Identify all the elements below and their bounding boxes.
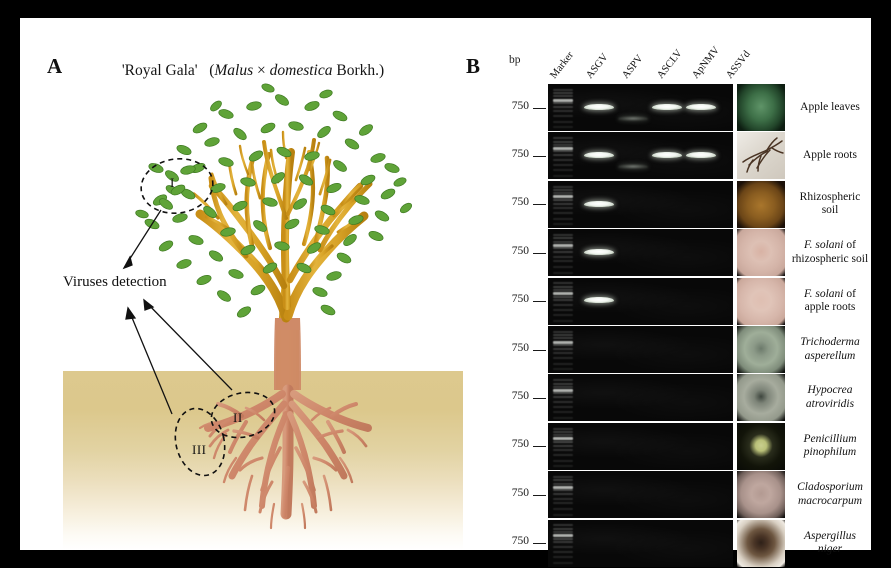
ladder-band [553, 299, 573, 301]
gel-background [548, 181, 733, 228]
ladder-band [553, 256, 573, 258]
ladder-band [553, 546, 573, 548]
taxon-italic: Penicillium pinophilum [803, 433, 856, 459]
sample-thumbnail-aspergillus-niger-culture [737, 520, 785, 567]
ladder-band [553, 396, 573, 398]
ladder-band [553, 392, 573, 394]
ladder-band [553, 348, 573, 350]
gel-image [548, 181, 733, 228]
ladder-band [553, 551, 573, 553]
panel-a-tree-diagram: A 'Royal Gala' (Malus × domestica Borkh.… [20, 18, 465, 550]
ladder-band [553, 251, 573, 253]
bp-size-label: 750 [503, 535, 529, 547]
ladder-band [553, 465, 573, 467]
dna-marker-ladder [553, 522, 573, 565]
region-II-label: II [233, 410, 243, 426]
gel-band-asgv [584, 104, 614, 110]
bp-tick-mark [533, 108, 546, 109]
sample-thumbnail-rhizospheric-soil-photo [737, 181, 785, 228]
gel-image [548, 278, 733, 325]
ladder-band [553, 406, 573, 408]
gel-image [548, 132, 733, 179]
ladder-band [553, 272, 573, 274]
region-I-label: I [170, 175, 175, 191]
ladder-band [553, 189, 573, 191]
ladder-band [553, 401, 573, 403]
region-III-label: III [192, 442, 207, 458]
thumbnail-image [737, 520, 785, 567]
bp-size-label: 750 [503, 196, 529, 208]
ladder-band [553, 89, 573, 91]
gel-background [548, 326, 733, 373]
ladder-band [553, 331, 573, 333]
thumbnail-image [737, 423, 785, 470]
ladder-band [553, 445, 573, 447]
ladder-band [553, 508, 573, 510]
ladder-band [553, 479, 573, 481]
thumbnail-image [737, 84, 785, 131]
ladder-band [553, 237, 573, 239]
ladder-band [553, 434, 573, 436]
sample-name-label: F. solani of rhizospheric soil [791, 239, 869, 266]
ladder-band [553, 531, 573, 533]
ladder-band [553, 304, 573, 306]
taxon-italic: Hypocrea atroviridis [806, 384, 854, 410]
taxon-italic: Trichoderma asperellum [800, 336, 859, 362]
bp-tick-mark [533, 398, 546, 399]
gel-band-apnmv [686, 104, 716, 110]
sample-name-label: Penicillium pinophilum [791, 433, 869, 460]
sample-name-label: F. solani of apple roots [791, 288, 869, 315]
gel-image [548, 374, 733, 421]
bp-size-label: 750 [503, 438, 529, 450]
bp-tick-mark [533, 253, 546, 254]
gel-image [548, 471, 733, 518]
ladder-band [553, 159, 573, 161]
ladder-band [553, 524, 573, 526]
gel-band-asclv [652, 104, 682, 110]
ladder-band [553, 357, 573, 359]
gel-band-asclv [652, 152, 682, 158]
gel-background [548, 229, 733, 276]
ladder-band [553, 363, 573, 365]
ladder-band [553, 489, 573, 491]
sample-thumbnail-hypocrea-atroviridis-culture [737, 374, 785, 421]
dna-marker-ladder [553, 183, 573, 226]
ladder-band [553, 534, 573, 537]
ladder-band [553, 528, 573, 530]
panel-b-gel-electrophoresis: B bp MarkerASGVASPVASCLVApNMVASSVd 750Ap… [465, 18, 871, 550]
ladder-band [553, 483, 573, 485]
thumbnail-image [737, 278, 785, 325]
sample-text: Rhizospheric soil [800, 191, 861, 217]
sample-name-label: Hypocrea atroviridis [791, 384, 869, 411]
ladder-band [553, 502, 573, 504]
roots-sketch [737, 132, 785, 179]
ladder-band [553, 150, 573, 152]
ladder-band [553, 241, 573, 243]
annotation-arrows [124, 210, 232, 414]
tree-roots [200, 390, 368, 534]
bp-tick-mark [533, 350, 546, 351]
gel-rows-container: 750Apple leaves750Apple roots750Rhizosph… [465, 18, 871, 550]
thumbnail-image [737, 326, 785, 373]
sample-thumbnail-apple-roots-photo [737, 132, 785, 179]
ladder-band [553, 368, 573, 370]
ladder-band [553, 449, 573, 451]
gel-image [548, 84, 733, 131]
ladder-band [553, 411, 573, 413]
ladder-band [553, 386, 573, 388]
ladder-band [553, 476, 573, 478]
figure-frame: A 'Royal Gala' (Malus × domestica Borkh.… [20, 18, 871, 550]
ladder-band [553, 95, 573, 97]
ladder-band [553, 126, 573, 128]
dna-marker-ladder [553, 473, 573, 516]
gel-band-aspv [618, 116, 648, 121]
ladder-band [553, 428, 573, 430]
ladder-band [553, 247, 573, 249]
bp-tick-mark [533, 495, 546, 496]
ladder-band [553, 498, 573, 500]
ladder-band [553, 175, 573, 177]
ladder-band [553, 337, 573, 339]
gel-image [548, 229, 733, 276]
ladder-band [553, 562, 573, 564]
sample-name-label: Apple leaves [791, 101, 869, 115]
thumbnail-image [737, 181, 785, 228]
ladder-band [553, 538, 573, 540]
thumbnail-image [737, 229, 785, 276]
dna-marker-ladder [553, 134, 573, 177]
bp-size-label: 750 [503, 293, 529, 305]
ladder-band [553, 460, 573, 462]
gel-image [548, 520, 733, 567]
sample-thumbnail-trichoderma-asperellum-culture [737, 326, 785, 373]
sample-thumbnail-cladosporium-macrocarpum-culture [737, 471, 785, 518]
gel-image [548, 326, 733, 373]
ladder-band [553, 169, 573, 171]
bp-size-label: 750 [503, 342, 529, 354]
ladder-band [553, 144, 573, 146]
ladder-band [553, 431, 573, 433]
gel-background [548, 471, 733, 518]
ladder-band [553, 266, 573, 268]
ladder-band [553, 541, 573, 543]
bp-tick-mark [533, 543, 546, 544]
ladder-band [553, 223, 573, 225]
ladder-band [553, 309, 573, 311]
dna-marker-ladder [553, 376, 573, 419]
ladder-band [553, 212, 573, 214]
ladder-band [553, 141, 573, 143]
ladder-band [553, 164, 573, 166]
ladder-band [553, 102, 573, 104]
bp-size-label: 750 [503, 390, 529, 402]
ladder-band [553, 344, 573, 346]
ladder-band [553, 121, 573, 123]
taxon-italic: F. solani [804, 288, 843, 300]
ladder-band [553, 296, 573, 298]
gel-band-asgv [584, 201, 614, 207]
dna-marker-ladder [553, 280, 573, 323]
bp-size-label: 750 [503, 487, 529, 499]
ladder-band [553, 186, 573, 188]
sample-thumbnail-fusarium-solani-soil-culture [737, 229, 785, 276]
ladder-band [553, 314, 573, 316]
gel-band-asgv [584, 152, 614, 158]
gel-image [548, 423, 733, 470]
dna-marker-ladder [553, 328, 573, 371]
ladder-band [553, 110, 573, 112]
ladder-band [553, 493, 573, 495]
ladder-band [553, 234, 573, 236]
ladder-band [553, 207, 573, 209]
ladder-band [553, 218, 573, 220]
sample-name-label: Apple roots [791, 149, 869, 163]
ladder-band [553, 556, 573, 558]
dna-marker-ladder [553, 86, 573, 129]
taxon-italic: F. solani [804, 239, 843, 251]
bp-size-label: 750 [503, 148, 529, 160]
sample-name-label: Trichoderma asperellum [791, 336, 869, 363]
bp-size-label: 750 [503, 245, 529, 257]
dna-marker-ladder [553, 425, 573, 468]
ladder-band [553, 441, 573, 443]
ladder-band [553, 203, 573, 205]
taxon-italic: Aspergillus niger [804, 530, 856, 556]
sample-name-label: Rhizospheric soil [791, 191, 869, 218]
ladder-band [553, 137, 573, 139]
sample-name-label: Cladosporium macrocarpum [791, 481, 869, 508]
ladder-band [553, 192, 573, 194]
bp-tick-mark [533, 204, 546, 205]
sample-thumbnail-penicillium-pinophilum-culture [737, 423, 785, 470]
ladder-band [553, 106, 573, 108]
ladder-band [553, 352, 573, 354]
viruses-detection-annotation: Viruses detection [63, 274, 167, 291]
bp-tick-mark [533, 156, 546, 157]
ladder-band [553, 286, 573, 288]
ladder-band [553, 292, 573, 295]
gel-background [548, 520, 733, 567]
ladder-band [553, 383, 573, 385]
sample-text: Apple leaves [800, 101, 860, 113]
ladder-band [553, 379, 573, 381]
sample-thumbnail-fusarium-solani-roots-culture [737, 278, 785, 325]
taxon-italic: Cladosporium macrocarpum [797, 481, 863, 507]
ladder-band [553, 260, 573, 262]
ladder-band [553, 334, 573, 336]
ladder-band [553, 320, 573, 322]
ladder-band [553, 154, 573, 156]
ladder-band [553, 289, 573, 291]
trunk-base [274, 318, 301, 390]
bp-tick-mark [533, 446, 546, 447]
ladder-band [553, 282, 573, 284]
ladder-band [553, 514, 573, 516]
ladder-band [553, 92, 573, 94]
thumbnail-image [737, 471, 785, 518]
sample-thumbnail-apple-leaf-photo [737, 84, 785, 131]
gel-background [548, 374, 733, 421]
bp-size-label: 750 [503, 100, 529, 112]
ladder-band [553, 454, 573, 456]
gel-background [548, 423, 733, 470]
ladder-band [553, 199, 573, 201]
sample-name-label: Aspergillus niger [791, 530, 869, 557]
gel-band-apnmv [686, 152, 716, 158]
gel-band-asgv [584, 249, 614, 255]
dna-marker-ladder [553, 231, 573, 274]
ladder-band [553, 115, 573, 117]
ladder-band [553, 417, 573, 419]
thumbnail-image [737, 374, 785, 421]
gel-background [548, 278, 733, 325]
bp-tick-mark [533, 301, 546, 302]
sample-text: Apple roots [803, 149, 857, 161]
